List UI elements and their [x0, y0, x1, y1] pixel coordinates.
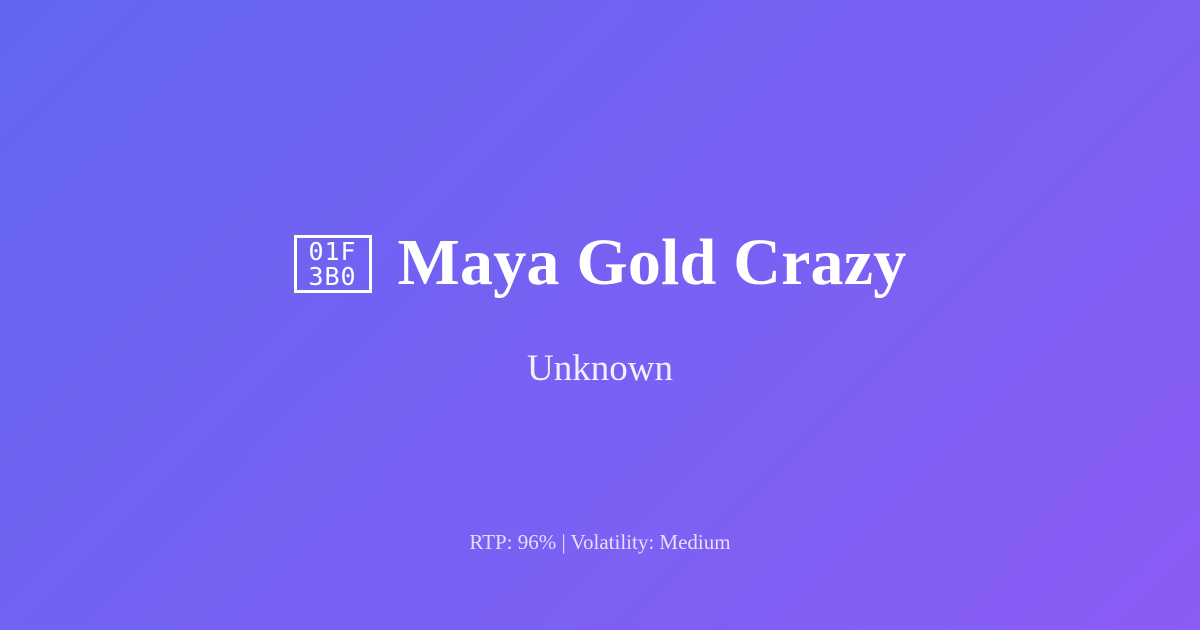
game-meta-line: RTP: 96% | Volatility: Medium: [0, 530, 1200, 555]
page-title: 01F 3B0 Maya Gold Crazy: [294, 228, 907, 297]
game-subtitle: Unknown: [527, 297, 673, 390]
game-promo-card: 01F 3B0 Maya Gold Crazy Unknown RTP: 96%…: [0, 0, 1200, 630]
slot-machine-icon: 01F 3B0: [294, 235, 372, 293]
slot-machine-icon-hex-top: 01F: [308, 239, 356, 264]
hero-block: 01F 3B0 Maya Gold Crazy Unknown: [0, 228, 1200, 390]
slot-machine-icon-hex-bottom: 3B0: [308, 264, 356, 289]
game-title-text: Maya Gold Crazy: [398, 228, 907, 297]
